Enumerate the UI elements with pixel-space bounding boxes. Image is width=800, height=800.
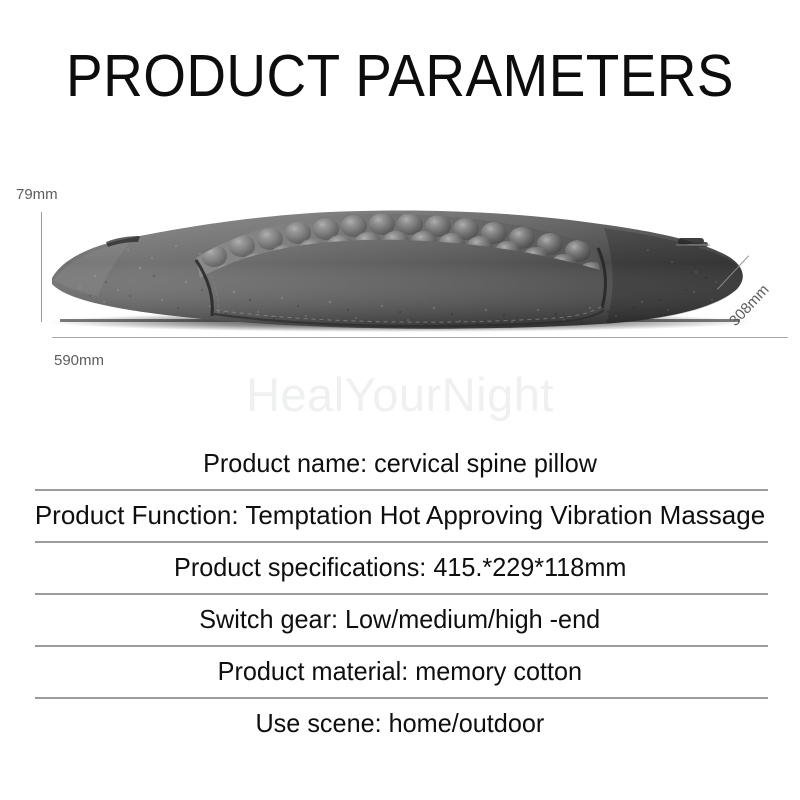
spec-row-product-name: Product name: cervical spine pillow (0, 437, 800, 489)
spec-text: Use scene: home/outdoor (256, 708, 545, 738)
spec-text: Product name: cervical spine pillow (203, 448, 597, 478)
product-image (0, 150, 800, 380)
spec-row-use-scene: Use scene: home/outdoor (0, 697, 800, 749)
width-dimension-label: 590mm (54, 352, 104, 369)
height-dimension-line (41, 212, 42, 322)
spec-text: Switch gear: Low/medium/high -end (200, 604, 601, 634)
spec-row-switch-gear: Switch gear: Low/medium/high -end (0, 593, 800, 645)
right-end-shade (604, 228, 743, 324)
spec-table: Product name: cervical spine pillow Prod… (0, 437, 800, 749)
page-title: PRODUCT PARAMETERS (28, 44, 772, 108)
spec-text: Product Function: Temptation Hot Approvi… (35, 500, 765, 530)
pillow-illustration (0, 150, 800, 380)
spec-text: Product material: memory cotton (218, 656, 582, 686)
product-parameters-page: PRODUCT PARAMETERS (0, 0, 800, 800)
width-dimension-line (52, 337, 788, 338)
height-dimension-label: 79mm (16, 186, 58, 203)
spec-text: Product specifications: 415.*229*118mm (174, 552, 626, 582)
spec-row-product-function: Product Function: Temptation Hot Approvi… (0, 489, 800, 541)
spec-row-product-specifications: Product specifications: 415.*229*118mm (0, 541, 800, 593)
spec-row-product-material: Product material: memory cotton (0, 645, 800, 697)
watermark: HealYourNight (0, 368, 800, 422)
